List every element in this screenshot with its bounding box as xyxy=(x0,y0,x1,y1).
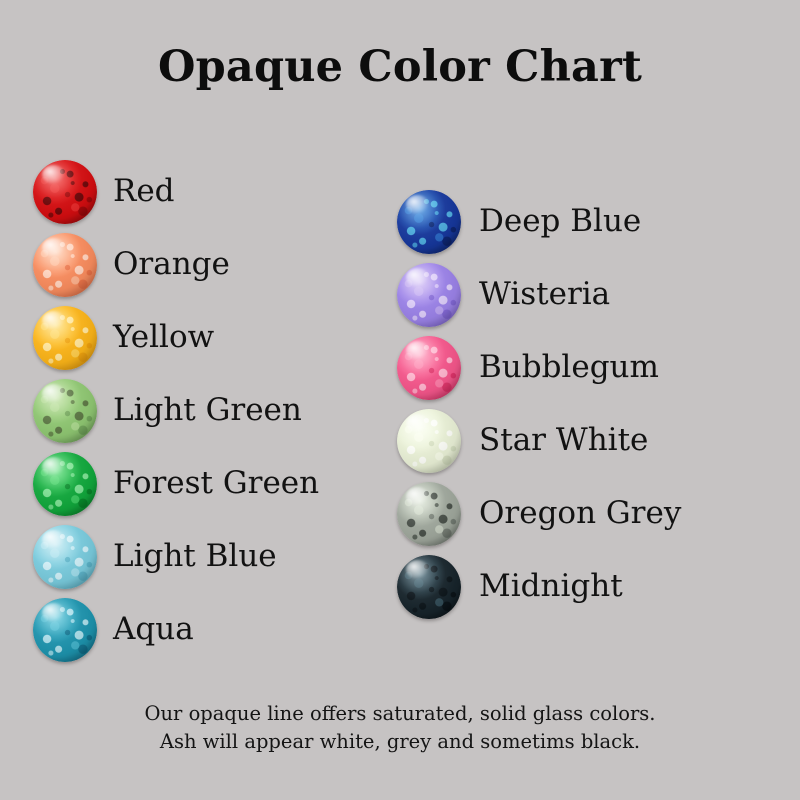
swatch-label: Yellow xyxy=(113,322,214,353)
swatch-row[interactable]: Aqua xyxy=(33,593,319,666)
swatch-label: Orange xyxy=(113,249,230,280)
bead-swatch-red xyxy=(33,160,97,224)
bead-swatch-yellow xyxy=(33,306,97,370)
swatch-row[interactable]: Midnight xyxy=(397,550,681,623)
swatch-row[interactable]: Red xyxy=(33,155,319,228)
swatch-row[interactable]: Oregon Grey xyxy=(397,477,681,550)
bead-swatch-midnight xyxy=(397,555,461,619)
swatch-label: Wisteria xyxy=(479,279,610,310)
swatch-label: Star White xyxy=(479,425,648,456)
bead-swatch-orange xyxy=(33,233,97,297)
swatch-label: Forest Green xyxy=(113,468,319,499)
bead-swatch-deep-blue xyxy=(397,190,461,254)
bead-swatch-aqua xyxy=(33,598,97,662)
swatch-row[interactable]: Yellow xyxy=(33,301,319,374)
swatch-row[interactable]: Orange xyxy=(33,228,319,301)
bead-swatch-light-green xyxy=(33,379,97,443)
footer-line-2: Ash will appear white, grey and sometims… xyxy=(0,728,800,756)
page-title: Opaque Color Chart xyxy=(0,42,800,92)
swatch-label: Deep Blue xyxy=(479,206,641,237)
bead-swatch-star-white xyxy=(397,409,461,473)
bead-swatch-wisteria xyxy=(397,263,461,327)
footer-line-1: Our opaque line offers saturated, solid … xyxy=(0,700,800,728)
swatch-label: Light Green xyxy=(113,395,302,426)
color-chart-page: Opaque Color Chart RedOrangeYellowLight … xyxy=(0,0,800,800)
bead-swatch-bubblegum xyxy=(397,336,461,400)
footer-note: Our opaque line offers saturated, solid … xyxy=(0,700,800,756)
swatch-column-right: Deep BlueWisteriaBubblegumStar WhiteOreg… xyxy=(397,185,681,623)
swatch-row[interactable]: Light Blue xyxy=(33,520,319,593)
swatch-label: Aqua xyxy=(113,614,194,645)
bead-swatch-forest-green xyxy=(33,452,97,516)
swatch-row[interactable]: Wisteria xyxy=(397,258,681,331)
swatch-row[interactable]: Light Green xyxy=(33,374,319,447)
swatch-row[interactable]: Star White xyxy=(397,404,681,477)
swatch-label: Red xyxy=(113,176,175,207)
swatch-label: Oregon Grey xyxy=(479,498,681,529)
bead-swatch-oregon-grey xyxy=(397,482,461,546)
swatch-label: Midnight xyxy=(479,571,623,602)
bead-swatch-light-blue xyxy=(33,525,97,589)
swatch-label: Bubblegum xyxy=(479,352,659,383)
swatch-row[interactable]: Deep Blue xyxy=(397,185,681,258)
swatch-column-left: RedOrangeYellowLight GreenForest GreenLi… xyxy=(33,155,319,666)
swatch-row[interactable]: Forest Green xyxy=(33,447,319,520)
swatch-label: Light Blue xyxy=(113,541,277,572)
swatch-row[interactable]: Bubblegum xyxy=(397,331,681,404)
